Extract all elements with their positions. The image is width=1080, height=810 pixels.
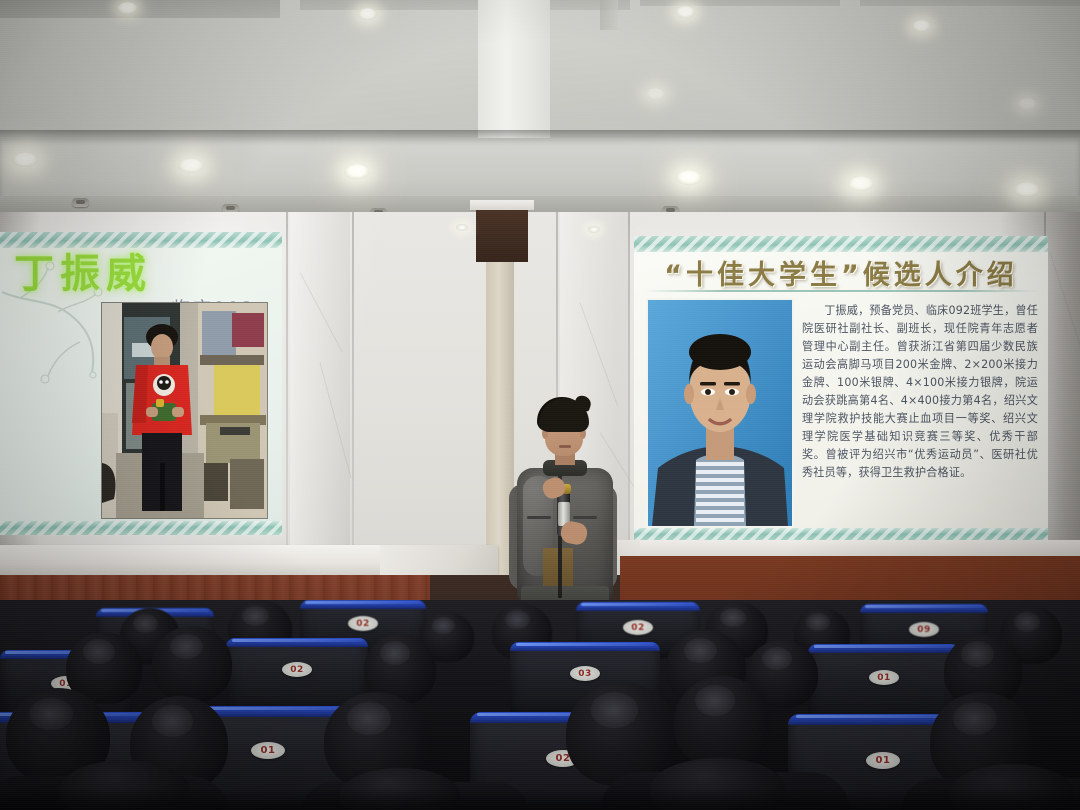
slide-band-pattern bbox=[0, 521, 282, 535]
ceiling-spotlight-icon bbox=[178, 158, 204, 173]
seat-number: 03 bbox=[570, 666, 600, 681]
ceiling-spotlight-icon bbox=[646, 88, 665, 100]
slide-header-band bbox=[634, 236, 1048, 252]
pilaster-capital-trim bbox=[470, 200, 534, 210]
ceiling-spotlight-icon bbox=[912, 20, 931, 32]
ceiling bbox=[0, 0, 1080, 222]
ceiling-spotlight-icon bbox=[358, 8, 377, 20]
seat[interactable]: 01 bbox=[808, 644, 960, 720]
seat-number: 02 bbox=[348, 616, 378, 631]
auditorium-photo: 丁振威 —临床092 bbox=[0, 0, 1080, 810]
id-portrait-graphic bbox=[648, 300, 792, 526]
ceiling-spotlight-icon bbox=[676, 6, 695, 18]
speaker-jacket-pocket bbox=[573, 516, 597, 519]
slide-id-photo bbox=[646, 298, 794, 528]
ceiling-coffer bbox=[860, 0, 1080, 6]
ceiling-spotlight-icon bbox=[12, 152, 38, 167]
slide-header-band bbox=[0, 232, 282, 248]
audience-head bbox=[152, 626, 232, 702]
audience-head bbox=[674, 676, 770, 768]
audience-seating: 03 02 02 09 01 02 bbox=[0, 600, 1080, 810]
seat-number: 02 bbox=[282, 662, 312, 677]
ceiling-coffer bbox=[300, 0, 630, 10]
slide-right-title: “十佳大学生”候选人介绍 bbox=[634, 253, 1048, 292]
ceiling-spotlight-icon bbox=[118, 2, 137, 14]
ceiling-beam bbox=[600, 0, 618, 30]
ceiling-coffer bbox=[640, 0, 840, 6]
projection-slide-right: “十佳大学生”候选人介绍 bbox=[634, 236, 1048, 542]
slide-title-rule bbox=[644, 290, 1038, 292]
bio-paragraph: 丁振威，预备党员、临床092班学生，曾任院医研社副社长、副班长，现任院青年志愿者… bbox=[802, 302, 1038, 482]
pilaster-capital bbox=[476, 206, 528, 262]
seat-number: 02 bbox=[623, 620, 653, 635]
speaker-mouth bbox=[559, 445, 571, 448]
sprinkler-icon bbox=[72, 198, 89, 207]
speaker-jacket-pocket bbox=[527, 516, 551, 519]
seat-number: 01 bbox=[251, 742, 285, 759]
ceiling-spotlight-icon bbox=[1018, 98, 1037, 110]
ceiling-coffer bbox=[0, 0, 280, 18]
seat-number: 01 bbox=[869, 670, 899, 685]
seat-number: 09 bbox=[909, 622, 939, 637]
slide-band-pattern bbox=[634, 236, 1048, 252]
slide-band-pattern bbox=[0, 232, 282, 248]
slide-bio-text: 丁振威，预备党员、临床092班学生，曾任院医研社副社长、副班长，现任院青年志愿者… bbox=[802, 302, 1038, 482]
wall-downlight-icon bbox=[456, 224, 468, 231]
projection-slide-left: 丁振威 —临床092 bbox=[0, 232, 282, 535]
slide-left-photo bbox=[101, 302, 268, 519]
ceiling-spotlight-icon bbox=[848, 176, 874, 191]
ceiling-spotlight-icon bbox=[676, 170, 702, 185]
dorm-photo-graphic bbox=[102, 303, 267, 518]
slide-left-title: 丁振威 bbox=[14, 254, 152, 294]
slide-footer-band bbox=[0, 521, 282, 535]
wall-downlight-icon bbox=[588, 226, 600, 233]
seat-number: 01 bbox=[866, 752, 900, 769]
ceiling-spotlight-icon bbox=[1014, 182, 1040, 197]
ceiling-spotlight-icon bbox=[344, 164, 370, 179]
